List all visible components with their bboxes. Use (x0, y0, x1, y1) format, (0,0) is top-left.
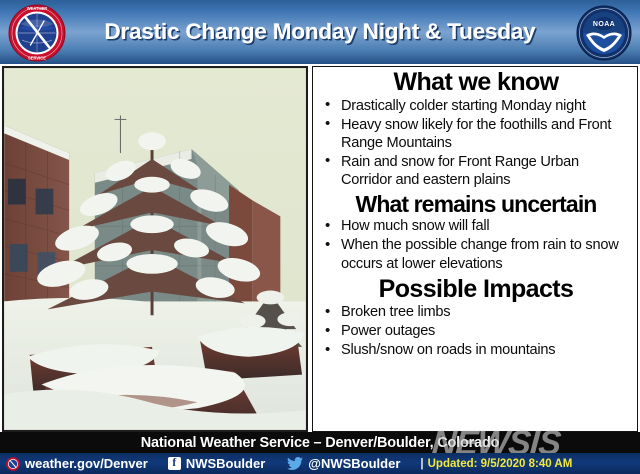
footer-bar: weather.gov/Denver f NWSBoulder @NWSBoul… (0, 453, 640, 474)
updated-text: Updated: 9/5/2020 8:40 AM (428, 458, 573, 470)
list-item-text: Drastically colder starting Monday night (341, 98, 586, 114)
list-item: • How much snow will fall (319, 217, 633, 235)
list-item-text: Power outages (341, 323, 435, 339)
national-weather-service-logo: WEATHER SERVICE (8, 4, 66, 62)
bullet-list-possible-impacts: • Broken tree limbs • Power outages • Sl… (319, 303, 633, 359)
bullet-icon: • (325, 341, 330, 360)
facebook-link[interactable]: f NWSBoulder (168, 456, 265, 471)
page-title: Drastic Change Monday Night & Tuesday (86, 0, 554, 64)
bullet-icon: • (325, 236, 330, 255)
section-heading-possible-impacts: Possible Impacts (319, 276, 633, 303)
list-item-text: Rain and snow for Front Range Urban Corr… (341, 154, 579, 188)
list-item: • Power outages (319, 322, 633, 340)
svg-text:SERVICE: SERVICE (28, 56, 46, 61)
list-item-text: Slush/snow on roads in mountains (341, 342, 555, 358)
bullet-icon: • (325, 96, 330, 115)
svg-text:WEATHER: WEATHER (27, 6, 47, 11)
list-item: • Slush/snow on roads in mountains (319, 341, 633, 359)
bullet-icon: • (325, 217, 330, 236)
list-item: • Heavy snow likely for the foothills an… (319, 116, 633, 152)
separator: | (420, 458, 423, 470)
list-item-text: How much snow will fall (341, 218, 489, 234)
list-item: • When the possible change from rain to … (319, 236, 633, 272)
header-banner: WEATHER SERVICE Drastic Change Monday Ni… (0, 0, 640, 64)
facebook-icon: f (168, 457, 181, 470)
website-label: weather.gov/Denver (25, 456, 148, 471)
website-link[interactable]: weather.gov/Denver (6, 456, 148, 471)
noaa-logo: NOAA (576, 5, 632, 61)
office-name-bar: National Weather Service – Denver/Boulde… (0, 432, 640, 453)
list-item-text: Broken tree limbs (341, 304, 450, 320)
weather-infographic: WEATHER SERVICE Drastic Change Monday Ni… (0, 0, 640, 474)
bullet-icon: • (325, 152, 330, 171)
svg-text:NOAA: NOAA (593, 21, 615, 28)
list-item-text: Heavy snow likely for the foothills and … (341, 117, 611, 151)
list-item-text: When the possible change from rain to sn… (341, 237, 618, 271)
bullet-list-what-we-know: • Drastically colder starting Monday nig… (319, 97, 633, 189)
list-item: • Rain and snow for Front Range Urban Co… (319, 153, 633, 189)
twitter-label: @NWSBoulder (308, 456, 400, 471)
bullet-list-what-remains-uncertain: • How much snow will fall • When the pos… (319, 217, 633, 272)
twitter-link[interactable]: @NWSBoulder (287, 456, 400, 471)
bullet-icon: • (325, 115, 330, 134)
nws-mini-logo-icon (6, 457, 20, 471)
list-item: • Drastically colder starting Monday nig… (319, 97, 633, 115)
bullet-icon: • (325, 322, 330, 341)
facebook-label: NWSBoulder (186, 456, 265, 471)
list-item: • Broken tree limbs (319, 303, 633, 321)
section-heading-what-remains-uncertain: What remains uncertain (319, 192, 633, 216)
snow-scene-photo (2, 66, 308, 432)
bullet-icon: • (325, 303, 330, 322)
office-name-text: National Weather Service – Denver/Boulde… (141, 435, 500, 451)
updated-timestamp: | Updated: 9/5/2020 8:40 AM (420, 458, 572, 470)
twitter-bird-icon (287, 457, 303, 470)
section-heading-what-we-know: What we know (319, 69, 633, 96)
information-panel: What we know • Drastically colder starti… (312, 66, 638, 432)
